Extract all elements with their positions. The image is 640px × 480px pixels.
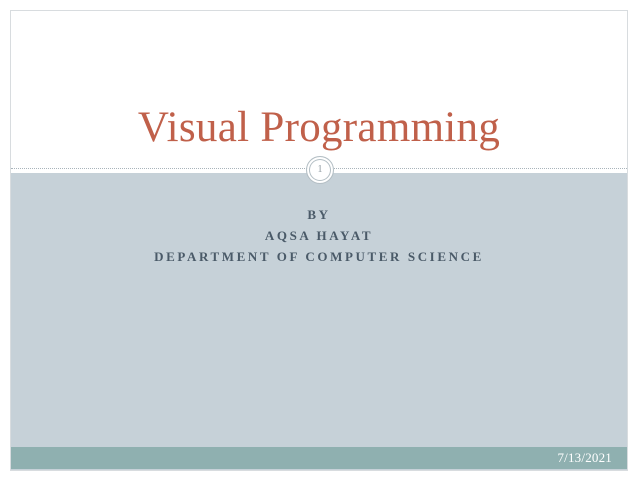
subtitle-line-department: DEPARTMENT OF COMPUTER SCIENCE [11, 246, 627, 267]
footer-date-text: 7/13/2021 [557, 450, 612, 466]
subtitle-line-by: BY [11, 204, 627, 225]
subtitle-line-author: AQSA HAYAT [11, 225, 627, 246]
slide-footer-band: 7/13/2021 [11, 447, 627, 469]
slide-canvas: 1 Visual Programming BY AQSA HAYAT DEPAR… [0, 0, 640, 480]
presentation-slide[interactable]: 1 Visual Programming BY AQSA HAYAT DEPAR… [10, 10, 628, 471]
slide-number-text: 1 [318, 165, 323, 175]
slide-number-badge: 1 [306, 156, 334, 184]
slide-subtitle: BY AQSA HAYAT DEPARTMENT OF COMPUTER SCI… [11, 204, 627, 267]
slide-title: Visual Programming [11, 104, 627, 151]
